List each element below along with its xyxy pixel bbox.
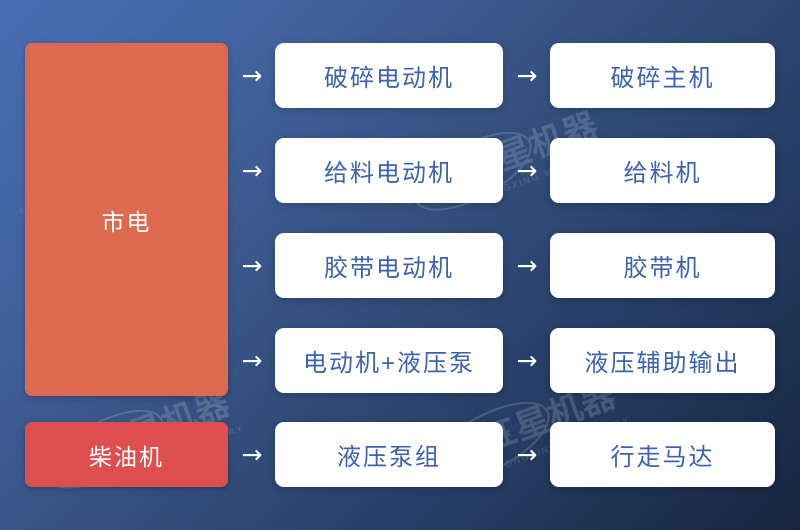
arrow-icon: → bbox=[507, 328, 547, 393]
output-node-2[interactable]: 给料机 bbox=[550, 138, 775, 203]
arrow-icon: → bbox=[232, 138, 272, 203]
arrow-icon: → bbox=[507, 138, 547, 203]
output-node-1[interactable]: 破碎主机 bbox=[550, 43, 775, 108]
arrow-icon: → bbox=[507, 422, 547, 487]
arrow-icon: → bbox=[232, 43, 272, 108]
driver-node-5[interactable]: 液压泵组 bbox=[275, 422, 503, 487]
output-node-5[interactable]: 行走马达 bbox=[550, 422, 775, 487]
output-node-4[interactable]: 液压辅助输出 bbox=[550, 328, 775, 393]
driver-node-2[interactable]: 给料电动机 bbox=[275, 138, 503, 203]
arrow-icon: → bbox=[507, 233, 547, 298]
arrow-icon: → bbox=[507, 43, 547, 108]
output-node-3[interactable]: 胶带机 bbox=[550, 233, 775, 298]
diagram-canvas: ★ ★ ★ ® 红星机器 HONGXING MACHINERY ★ ★ ★ ® … bbox=[0, 0, 800, 530]
source-block-diesel[interactable]: 柴油机 bbox=[25, 422, 228, 487]
source-block-mains[interactable]: 市电 bbox=[25, 43, 228, 396]
arrow-icon: → bbox=[232, 422, 272, 487]
arrow-icon: → bbox=[232, 233, 272, 298]
arrow-icon: → bbox=[232, 328, 272, 393]
driver-node-1[interactable]: 破碎电动机 bbox=[275, 43, 503, 108]
driver-node-4[interactable]: 电动机+液压泵 bbox=[275, 328, 503, 393]
driver-node-3[interactable]: 胶带电动机 bbox=[275, 233, 503, 298]
